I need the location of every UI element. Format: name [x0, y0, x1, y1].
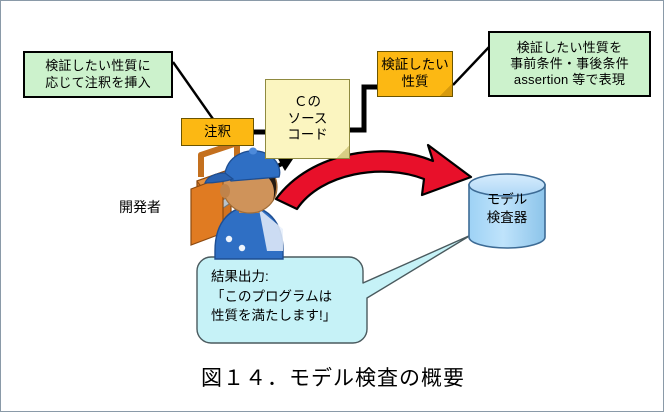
property-line: 性質	[402, 74, 429, 91]
annotation-box-label: 注釈	[204, 124, 231, 141]
property-line: 検証したい	[381, 57, 449, 74]
annotation-instruction-callout: 検証したい性質に 応じて注釈を挿入	[23, 51, 173, 98]
result-line: 「このプログラムは	[211, 287, 336, 307]
source-line: Ｃの	[294, 94, 321, 111]
model-checker-line: モデル	[457, 191, 557, 209]
model-checker-line: 検査器	[457, 209, 557, 227]
callout-line: 事前条件・事後条件	[510, 56, 629, 72]
property-expression-callout: 検証したい性質を 事前条件・事後条件 assertion 等で表現	[488, 31, 651, 97]
figure-container: 検証したい性質に 応じて注釈を挿入 注釈 Ｃの ソース コード 検証したい 性質…	[0, 0, 664, 412]
result-line: 結果出力:	[211, 267, 336, 287]
page-fold-icon	[440, 84, 453, 97]
callout-line: 検証したい性質を	[517, 40, 623, 56]
leader-line-annotation	[173, 62, 213, 119]
leader-line-property	[453, 46, 490, 85]
connector-source-to-property	[350, 87, 378, 130]
developer-label: 開発者	[119, 197, 161, 217]
callout-line: 検証したい性質に	[45, 58, 151, 74]
figure-caption: 図１４．モデル検査の概要	[1, 362, 664, 392]
source-line: コード	[287, 127, 328, 144]
developer-clipart	[191, 143, 283, 259]
source-line: ソース	[288, 111, 328, 128]
annotation-box: 注釈	[181, 118, 254, 146]
model-checker-label: モデル 検査器	[457, 191, 557, 226]
property-box: 検証したい 性質	[377, 51, 453, 97]
callout-line: 応じて注釈を挿入	[45, 75, 151, 91]
c-source-code-document: Ｃの ソース コード	[265, 79, 350, 159]
page-fold-icon	[337, 146, 350, 159]
result-line: 性質を満たします!」	[211, 306, 336, 326]
result-output-text: 結果出力: 「このプログラムは 性質を満たします!」	[211, 267, 336, 326]
callout-line: assertion 等で表現	[514, 72, 625, 88]
